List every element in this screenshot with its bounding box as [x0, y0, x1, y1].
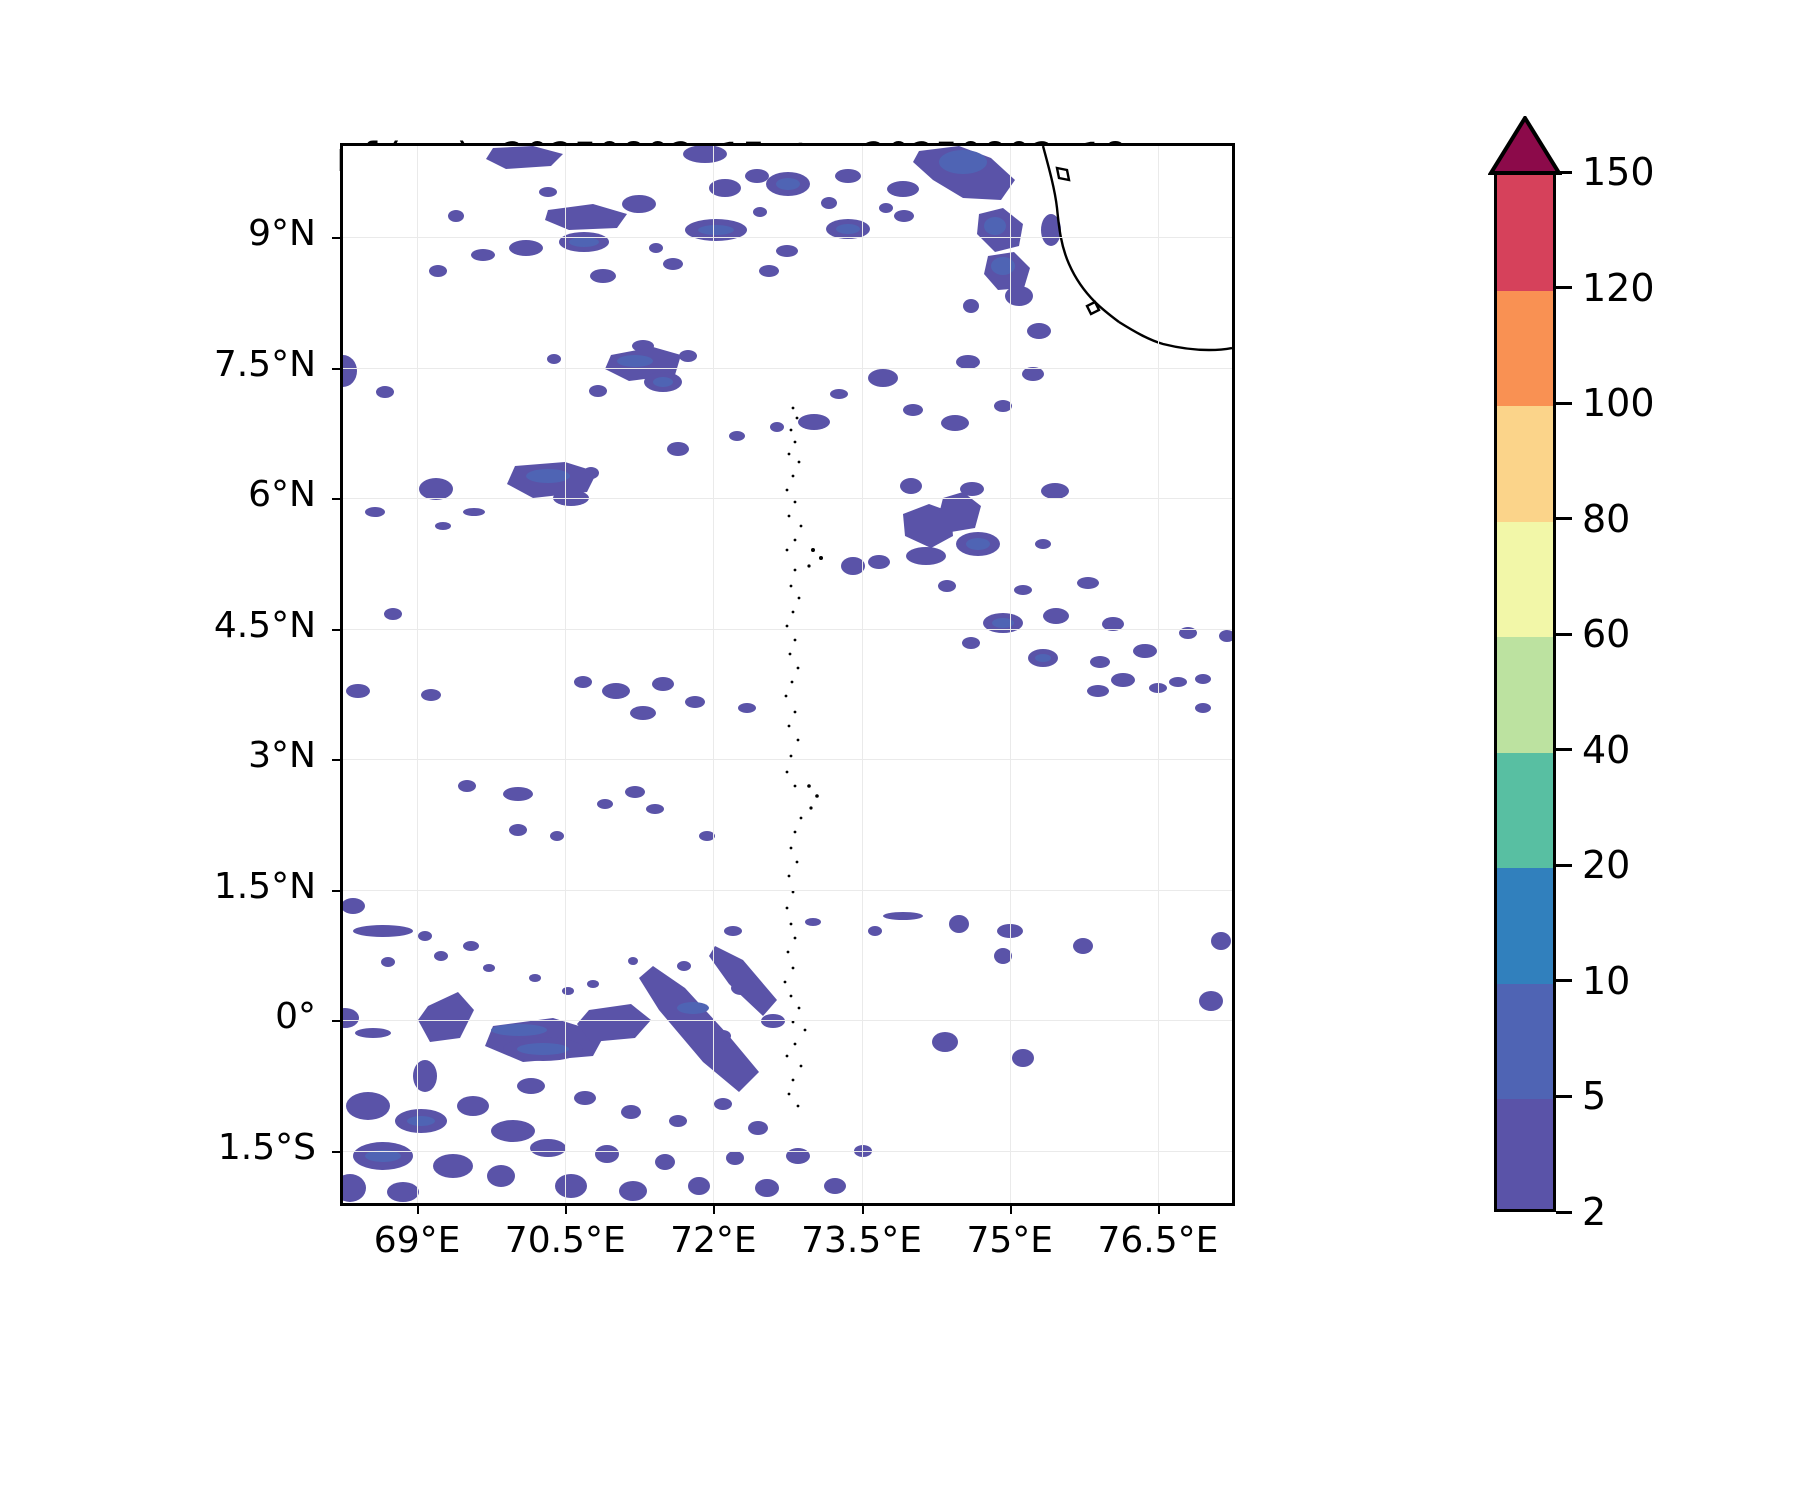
- y-tick-label-6N: 6°N: [16, 474, 316, 515]
- map-gridline-horizontal: [343, 368, 1232, 369]
- colorbar-tick-150: [1556, 171, 1572, 174]
- map-gridline-horizontal: [343, 890, 1232, 891]
- map-gridline-vertical: [862, 146, 863, 1203]
- map-gridline-vertical: [1010, 146, 1011, 1203]
- figure-canvas: rf(mm) 20250802_15 to 20250802_18 Simula…: [0, 0, 1800, 1500]
- colorbar-tick-5: [1556, 1095, 1572, 1098]
- island-dots: [784, 407, 823, 1108]
- y-tick-label-0: 0°: [16, 996, 316, 1037]
- colorbar-label-40: 40: [1582, 728, 1630, 772]
- colorbar-segment-60-80: [1497, 522, 1553, 638]
- map-gridline-vertical: [565, 146, 566, 1203]
- colorbar-segment-20-40: [1497, 753, 1553, 869]
- colorbar-label-150: 150: [1582, 150, 1655, 194]
- map-gridline-horizontal: [343, 1020, 1232, 1021]
- y-tick-label-9N: 9°N: [16, 213, 316, 254]
- colorbar-tick-120: [1556, 286, 1572, 289]
- y-tick-mark: [332, 1020, 341, 1022]
- map-inner: [343, 146, 1232, 1203]
- colorbar-segment-2-5: [1497, 1099, 1553, 1212]
- colorbar-label-2: 2: [1582, 1190, 1606, 1234]
- y-tick-mark: [332, 1151, 341, 1153]
- colorbar-tick-20: [1556, 864, 1572, 867]
- y-tick-mark: [332, 629, 341, 631]
- colorbar-tick-100: [1556, 402, 1572, 405]
- colorbar-tick-80: [1556, 517, 1572, 520]
- x-tick-mark: [1158, 1205, 1160, 1214]
- colorbar-label-10: 10: [1582, 959, 1630, 1003]
- colorbar-tick-10: [1556, 979, 1572, 982]
- x-tick-mark: [417, 1205, 419, 1214]
- y-tick-mark: [332, 368, 341, 370]
- x-tick-mark: [713, 1205, 715, 1214]
- colorbar-label-5: 5: [1582, 1074, 1606, 1118]
- y-tick-label-15N: 1.5°N: [16, 866, 316, 907]
- x-tick-mark: [862, 1205, 864, 1214]
- x-tick-mark: [565, 1205, 567, 1214]
- map-gridline-horizontal: [343, 759, 1232, 760]
- y-tick-label-75N: 7.5°N: [16, 344, 316, 385]
- colorbar-segment-5-10: [1497, 984, 1553, 1100]
- colorbar-body: [1494, 172, 1556, 1212]
- colorbar-segment-40-60: [1497, 637, 1553, 753]
- colorbar-label-20: 20: [1582, 843, 1630, 887]
- y-tick-label-3N: 3°N: [16, 735, 316, 776]
- x-tick-mark: [1010, 1205, 1012, 1214]
- colorbar-extend-max-arrow: [1488, 116, 1562, 174]
- x-tick-label-765E: 76.5°E: [1058, 1220, 1258, 1261]
- colorbar-tick-2: [1556, 1211, 1572, 1214]
- colorbar-segment-100-120: [1497, 291, 1553, 407]
- map-plot-area: [340, 143, 1235, 1206]
- y-tick-mark: [332, 759, 341, 761]
- coastline: [1043, 146, 1232, 350]
- map-gridline-horizontal: [343, 629, 1232, 630]
- colorbar-segment-10-20: [1497, 868, 1553, 984]
- colorbar-segment-120-150: [1497, 175, 1553, 291]
- rainfall-contour-layer: [343, 146, 1232, 1203]
- map-gridline-horizontal: [343, 498, 1232, 499]
- y-tick-label-15S: 1.5°S: [16, 1127, 316, 1168]
- y-tick-label-45N: 4.5°N: [16, 605, 316, 646]
- map-gridline-horizontal: [343, 237, 1232, 238]
- map-gridline-vertical: [1158, 146, 1159, 1203]
- map-gridline-horizontal: [343, 1151, 1232, 1152]
- map-gridline-vertical: [417, 146, 418, 1203]
- colorbar: 251020406080100120150: [1494, 172, 1556, 1212]
- colorbar-label-60: 60: [1582, 612, 1630, 656]
- colorbar-label-120: 120: [1582, 266, 1655, 310]
- colorbar-label-80: 80: [1582, 497, 1630, 541]
- y-tick-mark: [332, 890, 341, 892]
- map-gridline-vertical: [713, 146, 714, 1203]
- y-tick-mark: [332, 237, 341, 239]
- y-tick-mark: [332, 498, 341, 500]
- colorbar-label-100: 100: [1582, 381, 1655, 425]
- colorbar-tick-60: [1556, 633, 1572, 636]
- colorbar-tick-40: [1556, 748, 1572, 751]
- colorbar-segment-80-100: [1497, 406, 1553, 522]
